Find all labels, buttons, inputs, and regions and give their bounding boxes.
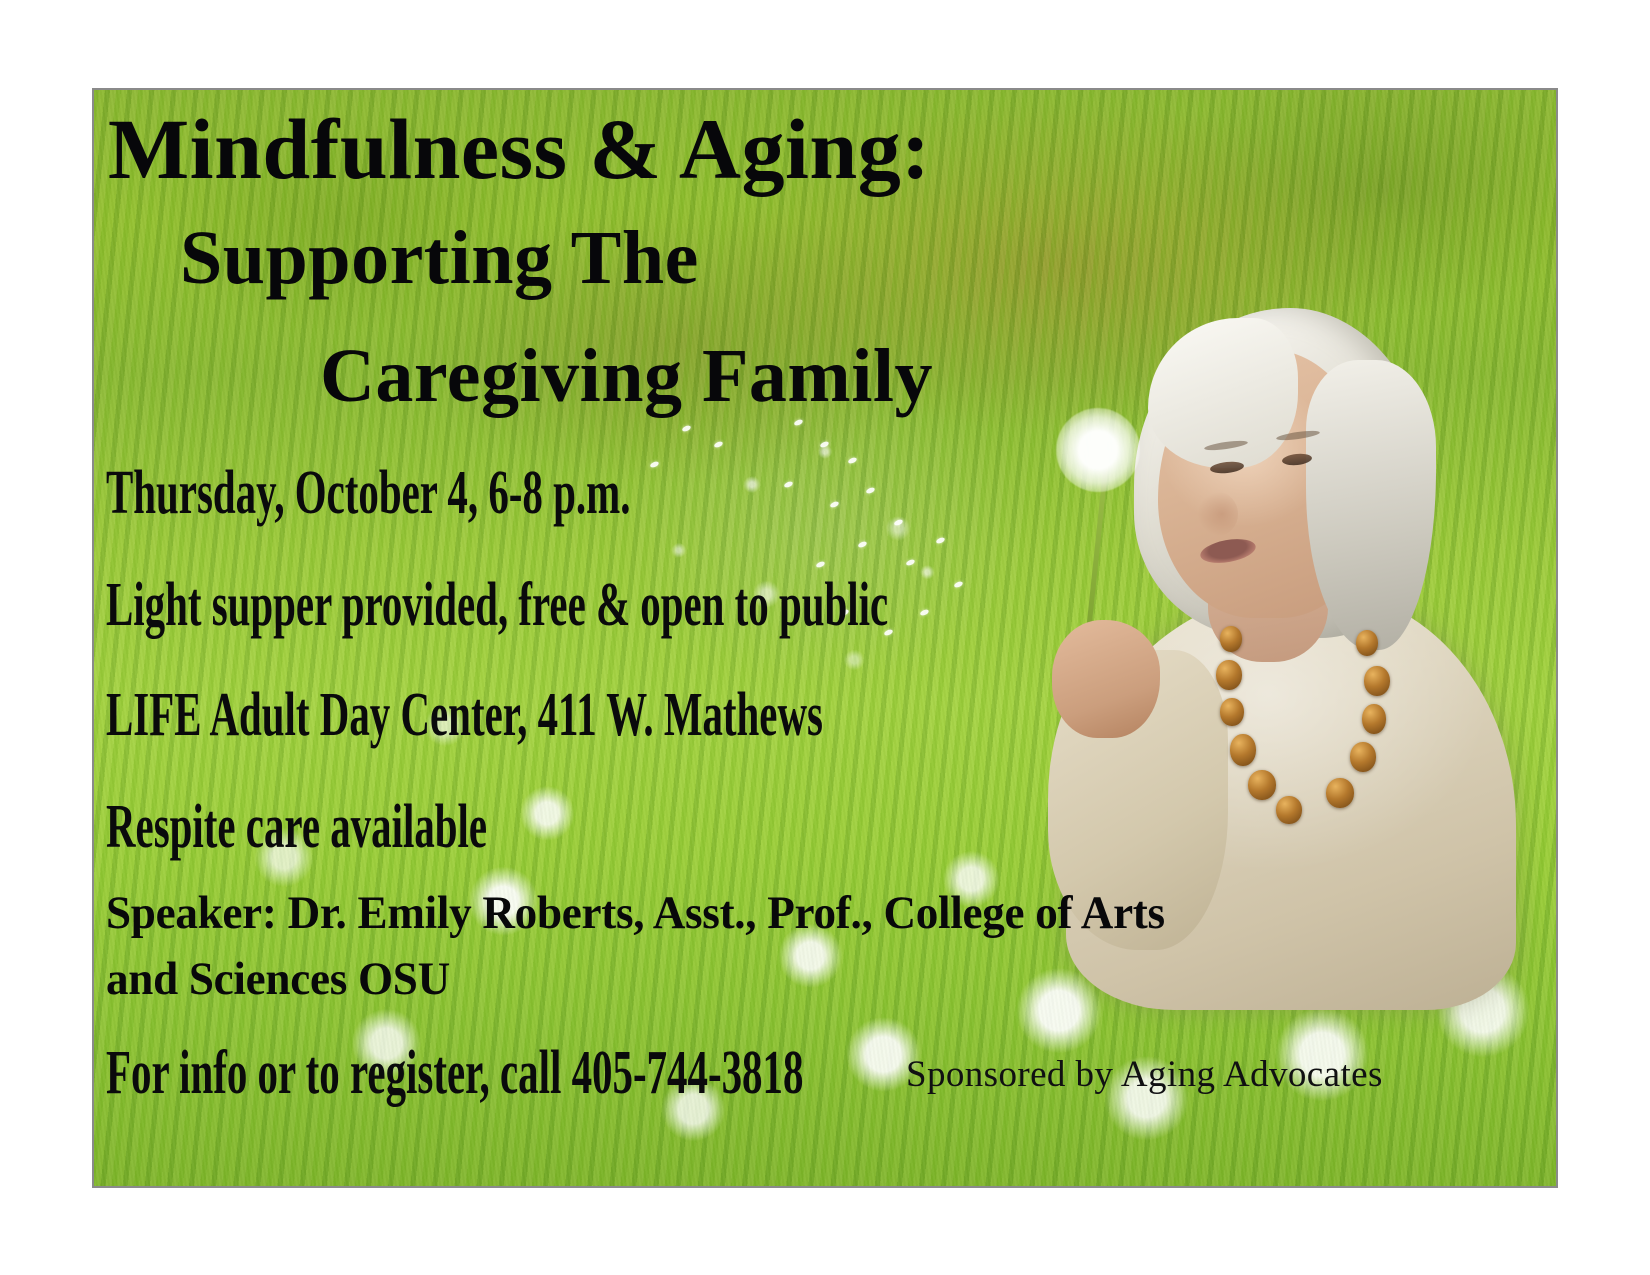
poster-title-line-3: Caregiving Family: [320, 338, 933, 414]
poster-title-line-2: Supporting The: [180, 220, 699, 296]
poster-page: Mindfulness & Aging: Supporting The Care…: [0, 0, 1650, 1275]
poster-title-line-1: Mindfulness & Aging:: [108, 106, 930, 192]
speaker-line-1: Speaker: Dr. Emily Roberts, Asst., Prof.…: [106, 890, 1165, 937]
event-respite-note: Respite care available: [106, 796, 487, 858]
contact-phone-line: For info or to register, call 405-744-38…: [106, 1042, 803, 1104]
poster-text-layer: Mindfulness & Aging: Supporting The Care…: [94, 90, 1556, 1186]
speaker-line-2: and Sciences OSU: [106, 956, 450, 1003]
event-date-time: Thursday, October 4, 6-8 p.m.: [106, 462, 630, 524]
event-supper-note: Light supper provided, free & open to pu…: [106, 574, 888, 636]
sponsor-credit: Sponsored by Aging Advocates: [906, 1056, 1383, 1093]
flyer-photo-frame: Mindfulness & Aging: Supporting The Care…: [92, 88, 1558, 1188]
event-location: LIFE Adult Day Center, 411 W. Mathews: [106, 684, 823, 746]
